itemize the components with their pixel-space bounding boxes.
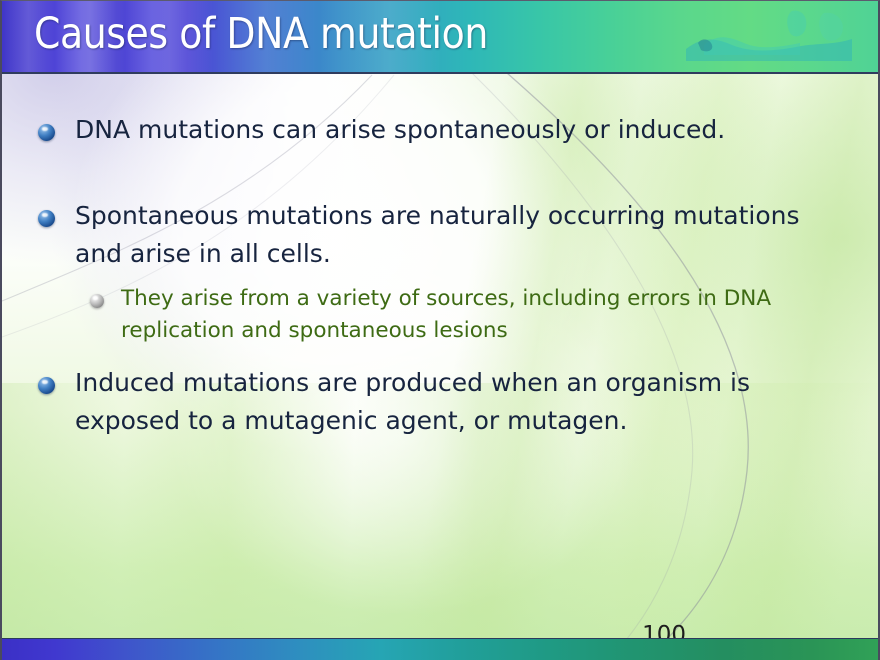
bullet-text: Induced mutations are produced when an o… [75, 364, 845, 440]
spacer [2, 347, 880, 364]
bullet-text: Spontaneous mutations are naturally occu… [75, 197, 845, 273]
slide-bottom-bar [2, 638, 880, 660]
blue-sphere-bullet-icon [38, 377, 55, 394]
spacer [2, 273, 880, 283]
blue-sphere-bullet-icon [38, 210, 55, 227]
bullet-item: Spontaneous mutations are naturally occu… [2, 197, 880, 273]
gray-sphere-bullet-icon [90, 294, 104, 308]
slide-body: DNA mutations can arise spontaneously or… [2, 111, 880, 440]
abstract-teal-blob-icon [674, 5, 864, 69]
sub-bullet-text: They arise from a variety of sources, in… [121, 283, 811, 347]
sub-bullet-item: They arise from a variety of sources, in… [2, 283, 880, 347]
bullet-text: DNA mutations can arise spontaneously or… [75, 111, 725, 149]
page-title: Causes of DNA mutation [34, 9, 488, 59]
spacer [2, 149, 880, 197]
slide-title-band: Causes of DNA mutation [2, 1, 880, 74]
bullet-item: DNA mutations can arise spontaneously or… [2, 111, 880, 149]
bullet-item: Induced mutations are produced when an o… [2, 364, 880, 440]
blue-sphere-bullet-icon [38, 124, 55, 141]
presentation-slide: Causes of DNA mutation DNA mutations can… [0, 0, 880, 660]
